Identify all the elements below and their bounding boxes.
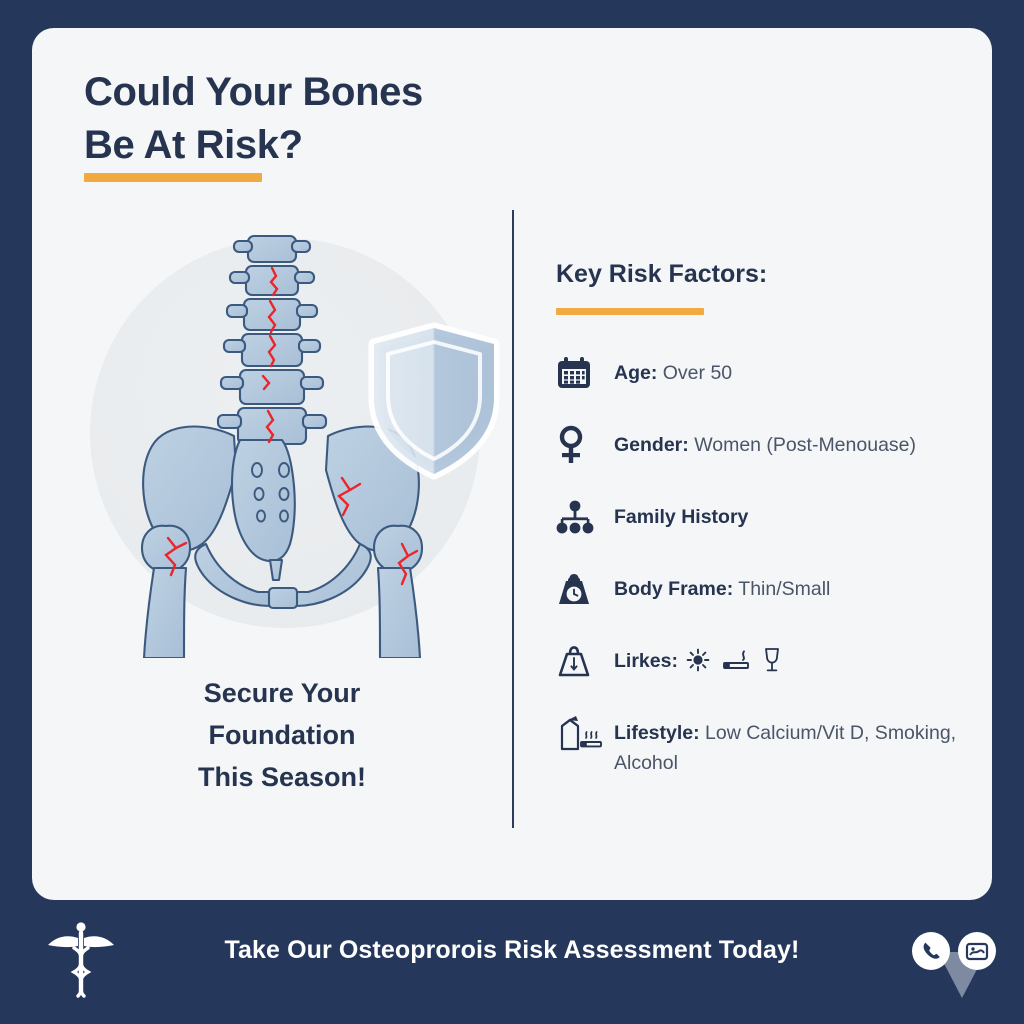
family-tree-icon [556,497,614,537]
list-item: Lirkes: [542,641,992,713]
cigarette-icon [722,648,750,682]
list-item-text: Lirkes: [614,641,992,683]
list-item-text: Body Frame: Thin/Small [614,569,992,605]
list-item-value: Women (Post-Menouase) [694,434,916,456]
list-item-label: Family History [614,506,748,528]
cta-text: Take Our Osteoprorois Risk Assessment To… [0,936,1024,965]
weight-scale-clock-icon [556,569,614,609]
list-item-label: Lirkes: [614,650,678,672]
left-column: Could Your Bones Be At Risk? [32,28,532,900]
infographic-card: Could Your Bones Be At Risk? [32,28,992,900]
tagline-line-3: This Season! [52,757,512,799]
list-item: Lifestyle: Low Calcium/Vit D, Smoking, A… [542,713,992,785]
list-item-value: Thin/Small [738,578,830,600]
weight-scale-arrow-icon [556,641,614,681]
page-title: Could Your Bones Be At Risk? [84,66,504,172]
list-item-value: Over 50 [663,362,732,384]
contact-card-icon[interactable] [958,932,996,970]
protection-shield-icon [374,328,494,474]
list-item-text: Family History [614,497,992,533]
list-item-text: Age: Over 50 [614,353,992,389]
risk-factors-list: Age: Over 50 Gender: Women (Post-Menouas… [542,353,992,785]
tagline-line-2: Foundation [52,715,512,757]
list-item-label: Gender: [614,434,689,456]
list-item: Family History [542,497,992,569]
skeleton-svg [58,208,506,658]
list-item-text: Lifestyle: Low Calcium/Vit D, Smoking, A… [614,713,992,778]
list-item: Body Frame: Thin/Small [542,569,992,641]
list-item-label: Body Frame: [614,578,733,600]
list-item-label: Age: [614,362,657,384]
wine-glass-icon [762,647,782,683]
list-item: Gender: Women (Post-Menouase) [542,425,992,497]
tagline-line-1: Secure Your [52,673,512,715]
tagline: Secure Your Foundation This Season! [52,673,512,799]
bone-illustration [58,208,506,658]
column-divider [512,210,514,828]
risk-factors-title: Key Risk Factors: [556,260,767,289]
title-accent-rule [84,173,262,182]
lifestyle-inline-icons [686,647,782,683]
calendar-icon [556,353,614,393]
phone-icon[interactable] [912,932,950,970]
list-item-label: Lifestyle: [614,722,700,744]
list-item: Age: Over 50 [542,353,992,425]
sun-icon [686,648,710,682]
footer-bar: Take Our Osteoprorois Risk Assessment To… [0,900,1024,1024]
page-title-line-1: Could Your Bones [84,66,504,119]
page-title-line-2: Be At Risk? [84,119,504,172]
right-column: Key Risk Factors: [542,28,992,900]
female-gender-icon [556,425,614,465]
footer-contact-badges[interactable] [912,932,996,970]
milk-carton-cigarette-icon [556,713,614,753]
risk-factors-accent-rule [556,308,704,315]
list-item-text: Gender: Women (Post-Menouase) [614,425,992,461]
